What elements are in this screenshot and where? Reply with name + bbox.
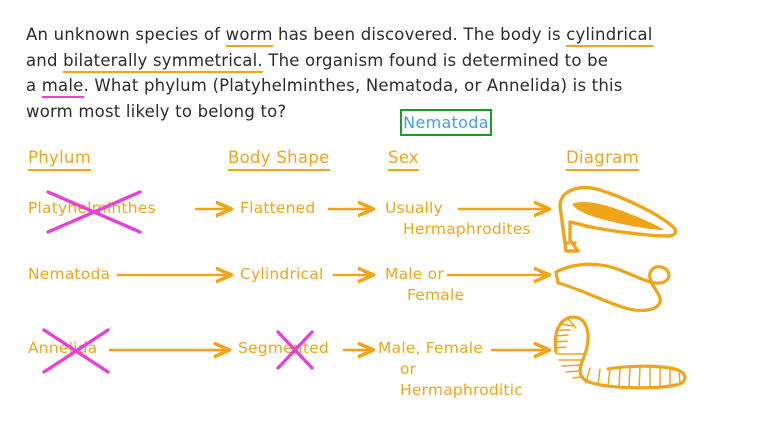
row-2-sex-line-1: Male or	[385, 265, 444, 283]
row-1-phylum: Platyhelminthes	[28, 198, 156, 219]
row-2-sex-line-2: Female	[385, 285, 495, 306]
row-2-body-shape: Cylindrical	[240, 264, 323, 285]
worksheet-canvas: An unknown species of worm has been disc…	[0, 0, 760, 427]
row-3-body-shape: Segmented	[238, 338, 329, 359]
row-3-sex: Male, Female or Hermaphroditic	[378, 338, 513, 401]
row-2-phylum: Nematoda	[28, 264, 110, 285]
row-3-phylum: Annelida	[28, 338, 97, 359]
row-3-sex-line-2: or Hermaphroditic	[378, 359, 513, 401]
column-header-diagram: Diagram	[566, 148, 639, 171]
row-2-sex: Male or Female	[385, 264, 495, 306]
row-3-sex-line-1: Male, Female	[378, 339, 483, 357]
column-header-phylum: Phylum	[28, 148, 91, 171]
row-1-sex-line-1: Usually	[385, 199, 443, 217]
flowchart-table: Phylum Body Shape Sex Diagram Platyhelmi…	[0, 0, 760, 427]
row-1-sex: Usually Hermaphrodites	[385, 198, 505, 240]
column-header-body-shape: Body Shape	[228, 148, 330, 171]
row-1-sex-line-2: Hermaphrodites	[385, 219, 505, 240]
column-header-sex: Sex	[388, 148, 419, 171]
row-1-body-shape: Flattened	[240, 198, 315, 219]
